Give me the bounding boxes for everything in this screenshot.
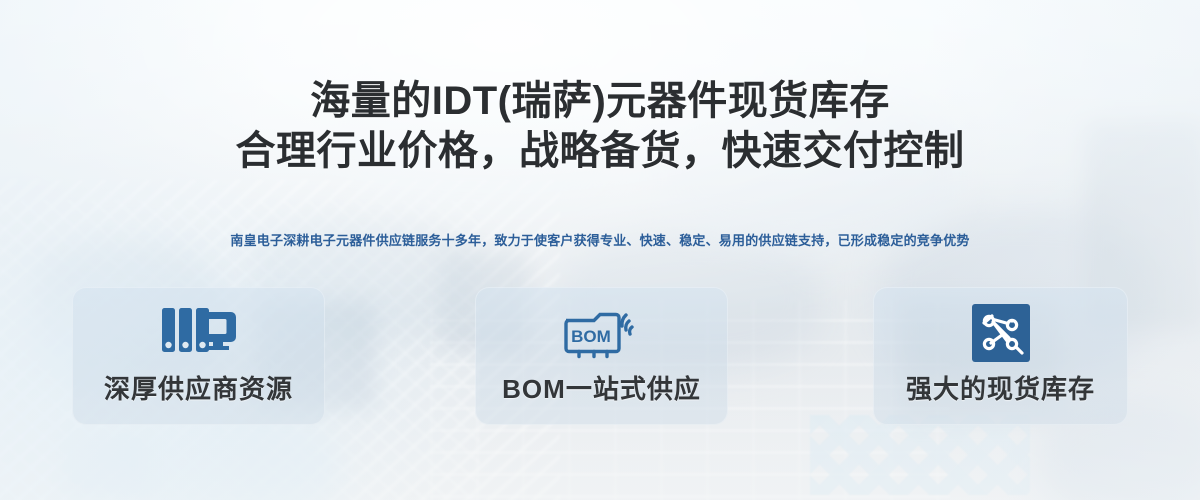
- feature-card-supplier-resources[interactable]: 深厚供应商资源: [72, 287, 325, 425]
- feature-card-title: BOM一站式供应: [502, 369, 701, 406]
- headline-line-2: 合理行业价格，战略备货，快速交付控制: [0, 126, 1200, 176]
- feature-card-title: 深厚供应商资源: [104, 369, 293, 406]
- headline-line-1: 海量的IDT(瑞萨)元器件现货库存: [310, 79, 890, 123]
- headline: 海量的IDT(瑞萨)元器件现货库存 合理行业价格，战略备货，快速交付控制: [0, 76, 1200, 176]
- banner-content: 海量的IDT(瑞萨)元器件现货库存 合理行业价格，战略备货，快速交付控制 南皇电…: [0, 0, 1200, 500]
- feature-card-title: 强大的现货库存: [906, 369, 1095, 406]
- bom-icon-label: BOM: [571, 327, 611, 346]
- feature-card-stock-inventory[interactable]: 强大的现货库存: [873, 287, 1128, 425]
- subtitle: 南皇电子深耕电子元器件供应链服务十多年，致力于使客户获得专业、快速、稳定、易用的…: [0, 230, 1200, 249]
- circuit-nodes-icon: [972, 303, 1030, 363]
- promo-banner: 海量的IDT(瑞萨)元器件现货库存 合理行业价格，战略备货，快速交付控制 南皇电…: [0, 0, 1200, 500]
- bom-chip-signal-icon: BOM: [560, 303, 644, 363]
- server-monitor-icon: [161, 303, 237, 363]
- feature-card-bom-supply[interactable]: BOM BOM一站式供应: [475, 287, 728, 425]
- feature-card-list: 深厚供应商资源 BOM BOM一站: [0, 287, 1200, 427]
